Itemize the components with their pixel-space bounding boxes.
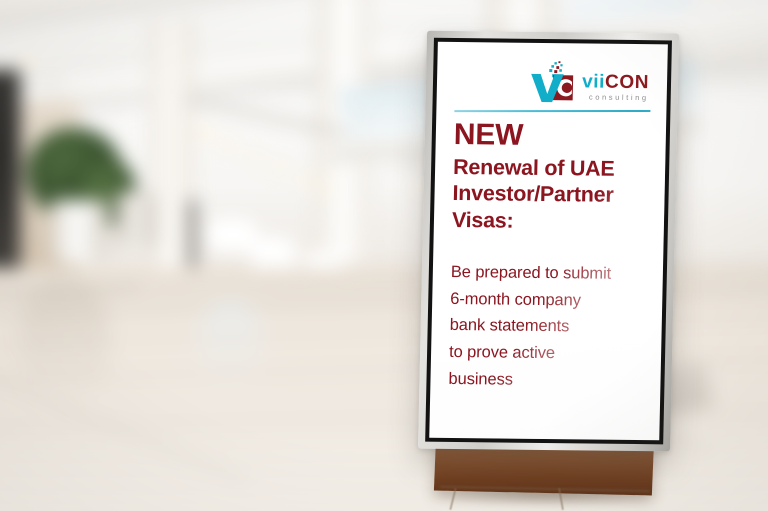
- ceiling-light: [220, 138, 238, 152]
- poster-body-text: Be prepared to submit 6-month company ba…: [448, 259, 647, 395]
- content-spacer: [451, 233, 648, 261]
- body-line: to prove active: [449, 339, 646, 368]
- brand-name-part-2: CON: [605, 71, 649, 92]
- window-glow: [206, 218, 258, 252]
- sign-inner-bezel: viiCON consulting NEW Renewal of UAE Inv…: [425, 38, 672, 445]
- screenshot-canvas: viiCON consulting NEW Renewal of UAE Inv…: [0, 0, 768, 511]
- planter-pot: [116, 192, 156, 248]
- header-divider-rule: [454, 110, 650, 112]
- brand-logo: viiCON consulting: [455, 56, 652, 104]
- headline-kicker: NEW: [454, 120, 651, 153]
- dark-storefront: [0, 70, 20, 280]
- body-line: business: [448, 366, 645, 395]
- headline-title: Renewal of UAE Investor/Partner Visas:: [452, 154, 650, 235]
- ceiling-light: [270, 162, 288, 176]
- planter-pot: [50, 200, 108, 262]
- headline-title-line: Investor/Partner: [452, 180, 649, 208]
- body-line: 6-month company: [450, 286, 647, 315]
- poster-face: viiCON consulting NEW Renewal of UAE Inv…: [429, 42, 668, 441]
- body-line: bank statements: [449, 312, 646, 341]
- ceiling-light: [316, 182, 332, 195]
- pillar: [150, 20, 194, 270]
- ceiling-light: [296, 172, 314, 186]
- ceiling-light: [18, 55, 38, 69]
- headline-title-line: Renewal of UAE: [453, 154, 650, 182]
- viicon-logo-mark-icon: [529, 61, 576, 104]
- poster-sign-board[interactable]: viiCON consulting NEW Renewal of UAE Inv…: [418, 31, 679, 452]
- floor-reflection: [200, 300, 260, 390]
- brand-name-part-1: vii: [582, 71, 605, 92]
- ceiling-light: [246, 152, 264, 166]
- headline-title-line: Visas:: [452, 207, 649, 235]
- brand-wordmark: viiCON consulting: [582, 72, 650, 104]
- poster-headline: NEW Renewal of UAE Investor/Partner Visa…: [452, 120, 650, 235]
- brand-tagline: consulting: [582, 93, 649, 101]
- brand-name: viiCON: [582, 72, 649, 92]
- body-line: Be prepared to submit: [451, 259, 648, 288]
- ceiling-light: [196, 125, 216, 141]
- floor-reflection: [20, 280, 110, 400]
- sign-metal-frame: viiCON consulting NEW Renewal of UAE Inv…: [418, 31, 679, 452]
